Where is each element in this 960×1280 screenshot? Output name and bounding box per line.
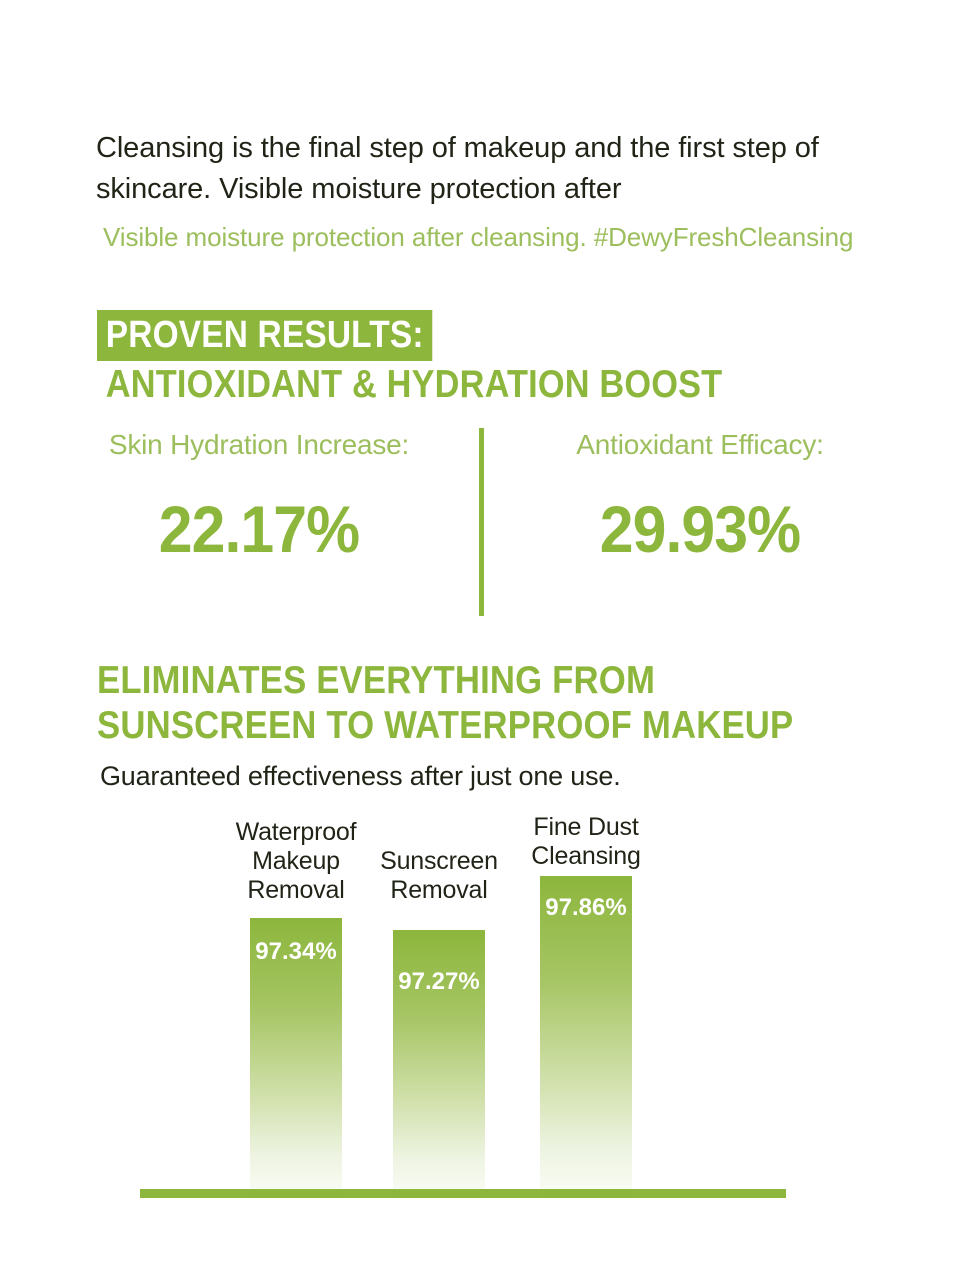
stat-label: Antioxidant Efficacy:: [485, 428, 915, 462]
bar-sunscreen-removal: 97.27%: [393, 930, 485, 1199]
stat-value: 29.93%: [502, 494, 898, 564]
stats-row: Skin Hydration Increase: 22.17% Antioxid…: [0, 428, 960, 623]
intro-dark-paragraph: Cleansing is the final step of makeup an…: [96, 128, 856, 210]
eliminates-heading: ELIMINATES EVERYTHING FROM SUNSCREEN TO …: [97, 658, 879, 748]
eliminates-line-1: ELIMINATES EVERYTHING FROM: [97, 658, 793, 703]
eliminates-note: Guaranteed effectiveness after just one …: [100, 758, 621, 794]
eliminates-line-2: SUNSCREEN TO WATERPROOF MAKEUP: [97, 703, 793, 748]
bar-value-label: 97.86%: [540, 894, 632, 922]
stat-skin-hydration: Skin Hydration Increase: 22.17%: [44, 428, 474, 564]
bar-chart: Waterproof Makeup Removal 97.34% Sunscre…: [0, 810, 960, 1210]
proven-results-highlight: PROVEN RESULTS:: [97, 310, 432, 361]
bar-fine-dust-cleansing: 97.86%: [540, 876, 632, 1199]
intro-green-paragraph: Visible moisture protection after cleans…: [103, 219, 863, 256]
proven-results-subtitle: ANTIOXIDANT & HYDRATION BOOST: [97, 362, 722, 408]
infographic-page: Cleansing is the final step of makeup an…: [0, 0, 960, 1280]
bar-waterproof-makeup-removal: 97.34%: [250, 918, 342, 1199]
proven-results-heading: PROVEN RESULTS: ANTIOXIDANT & HYDRATION …: [97, 310, 808, 408]
stats-divider: [479, 428, 484, 616]
bar-category-label-sunscreen-removal: Sunscreen Removal: [359, 847, 519, 905]
bar-value-label: 97.27%: [393, 968, 485, 996]
bar-value-label: 97.34%: [250, 938, 342, 966]
bar-category-label-waterproof-makeup-removal: Waterproof Makeup Removal: [216, 818, 376, 905]
stat-antioxidant-efficacy: Antioxidant Efficacy: 29.93%: [485, 428, 915, 564]
stat-label: Skin Hydration Increase:: [44, 428, 474, 462]
chart-baseline: [140, 1189, 786, 1198]
bar-category-label-fine-dust-cleansing: Fine Dust Cleansing: [506, 813, 666, 871]
stat-value: 22.17%: [61, 494, 457, 564]
